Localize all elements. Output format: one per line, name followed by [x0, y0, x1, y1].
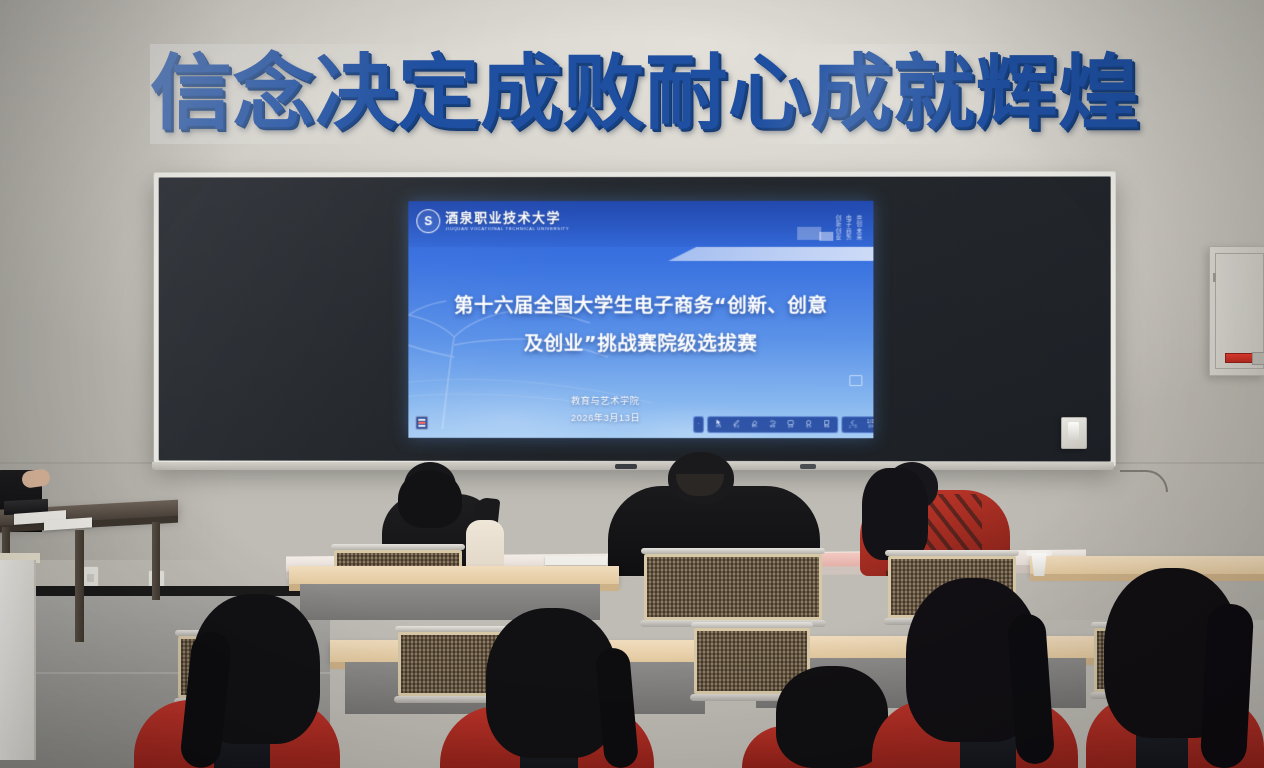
logo-name-cn: 酒泉职业技术大学 — [445, 211, 569, 225]
motto-char-1: 念 — [233, 53, 315, 135]
toolbar-dot-button[interactable]: · — [693, 416, 704, 433]
pen-icon[interactable]: 批注 — [728, 417, 745, 432]
left-cabinet — [0, 560, 36, 760]
university-logo: S 酒泉职业技术大学 JIUQUAN VOCATIONAL TECHNICAL … — [416, 209, 569, 233]
slide-title: 第十六届全国大学生电子商务“创新、创意 及创业”挑战赛院级选拔赛 — [408, 287, 873, 363]
blackboard-sensor — [615, 464, 637, 469]
panel-hinge — [1213, 273, 1216, 282]
tool-label-1: 批注 — [734, 427, 740, 430]
slide-subtitle-date: 2026年3月13日 — [571, 410, 640, 427]
slide-vertical-text: 共创未来 电子商务 创新创业 — [832, 207, 863, 241]
classroom-scene: 信 念 决 定 成 败 耐 心 成 就 辉 煌 — [0, 0, 1264, 768]
undo-icon[interactable]: 撤销 — [764, 417, 781, 432]
motto-char-6: 耐 — [645, 53, 727, 135]
logo-name-en: JIUQUAN VOCATIONAL TECHNICAL UNIVERSITY — [445, 226, 569, 231]
toolbar-nav-group[interactable]: 上一页 1/1 页码 下一页 — [841, 416, 873, 433]
tool-label-2: 擦除 — [752, 427, 758, 430]
student-5-ponytail — [1200, 603, 1255, 768]
tool-label-6: 录屏 — [824, 427, 830, 430]
desk-row2-left — [289, 566, 619, 584]
panel-warning-label — [1225, 353, 1253, 363]
judge-paper — [545, 556, 607, 565]
interactive-blackboard[interactable]: S 酒泉职业技术大学 JIUQUAN VOCATIONAL TECHNICAL … — [154, 171, 1116, 466]
page-indicator-label: 页码 — [868, 426, 873, 429]
slide-decor-square-1 — [797, 227, 821, 240]
slide-subtitle: 教育与艺术学院 2026年3月13日 — [571, 393, 640, 427]
cursor-icon[interactable]: 选择 — [710, 417, 727, 432]
tool-label-4: 截屏 — [788, 427, 794, 430]
motto-char-0: 信 — [150, 53, 232, 135]
wall-motto: 信 念 决 定 成 败 耐 心 成 就 辉 煌 — [150, 44, 1140, 144]
slide-header-band — [408, 201, 873, 247]
slide-app-launcher-icon[interactable] — [415, 416, 428, 430]
slide-diagonal-band — [408, 247, 873, 261]
slide-subtitle-org: 教育与艺术学院 — [571, 393, 640, 410]
tool-label-0: 选择 — [716, 427, 722, 430]
slide-title-line-1: 第十六届全国大学生电子商务“创新、创意 — [408, 287, 873, 325]
left-table-leg-3 — [152, 522, 160, 600]
annotation-toolbar[interactable]: · 选择 批注 擦除 — [693, 414, 873, 434]
chevron-left-icon[interactable]: 上一页 — [844, 417, 861, 432]
spotlight-icon[interactable]: 聚光 — [800, 417, 817, 432]
motto-char-5: 败 — [563, 53, 645, 135]
chair-front-2[interactable] — [644, 554, 822, 620]
motto-char-11: 煌 — [1058, 53, 1140, 135]
slide-tree-art — [408, 279, 652, 429]
wall-speaker[interactable] — [1061, 417, 1087, 449]
toolbar-tools-group[interactable]: 选择 批注 擦除 撤销 — [707, 416, 838, 433]
slide-corner-icon[interactable] — [849, 375, 862, 386]
motto-char-4: 成 — [480, 53, 562, 135]
judge-left-hair — [398, 470, 462, 528]
motto-char-9: 就 — [893, 53, 975, 135]
motto-char-8: 成 — [810, 53, 892, 135]
page-indicator: 1/1 页码 — [862, 417, 873, 432]
motto-char-10: 辉 — [975, 53, 1057, 135]
screenshot-icon[interactable]: 截屏 — [782, 417, 799, 432]
capture-icon[interactable]: 录屏 — [818, 417, 835, 432]
judge-right-hair — [862, 468, 928, 560]
slide-decor-square-2 — [819, 232, 833, 241]
slide-landscape-art — [408, 288, 873, 438]
panel-side-box — [1252, 352, 1264, 365]
nav-prev-label: 上一页 — [849, 427, 857, 430]
presentation-slide[interactable]: S 酒泉职业技术大学 JIUQUAN VOCATIONAL TECHNICAL … — [408, 201, 873, 438]
motto-char-3: 定 — [398, 53, 480, 135]
eraser-icon[interactable]: 擦除 — [746, 417, 763, 432]
left-table-leg-2 — [75, 530, 84, 642]
blackboard-sensor-2 — [800, 464, 816, 469]
page-indicator-value: 1/1 — [863, 420, 874, 426]
tool-label-3: 撤销 — [770, 427, 776, 430]
blackboard-surface: S 酒泉职业技术大学 JIUQUAN VOCATIONAL TECHNICAL … — [159, 176, 1111, 461]
slide-title-line-2: 及创业”挑战赛院级选拔赛 — [408, 325, 873, 363]
logo-emblem-icon: S — [416, 209, 440, 233]
tool-label-5: 聚光 — [806, 427, 812, 430]
motto-char-7: 心 — [728, 53, 810, 135]
motto-char-2: 决 — [315, 53, 397, 135]
